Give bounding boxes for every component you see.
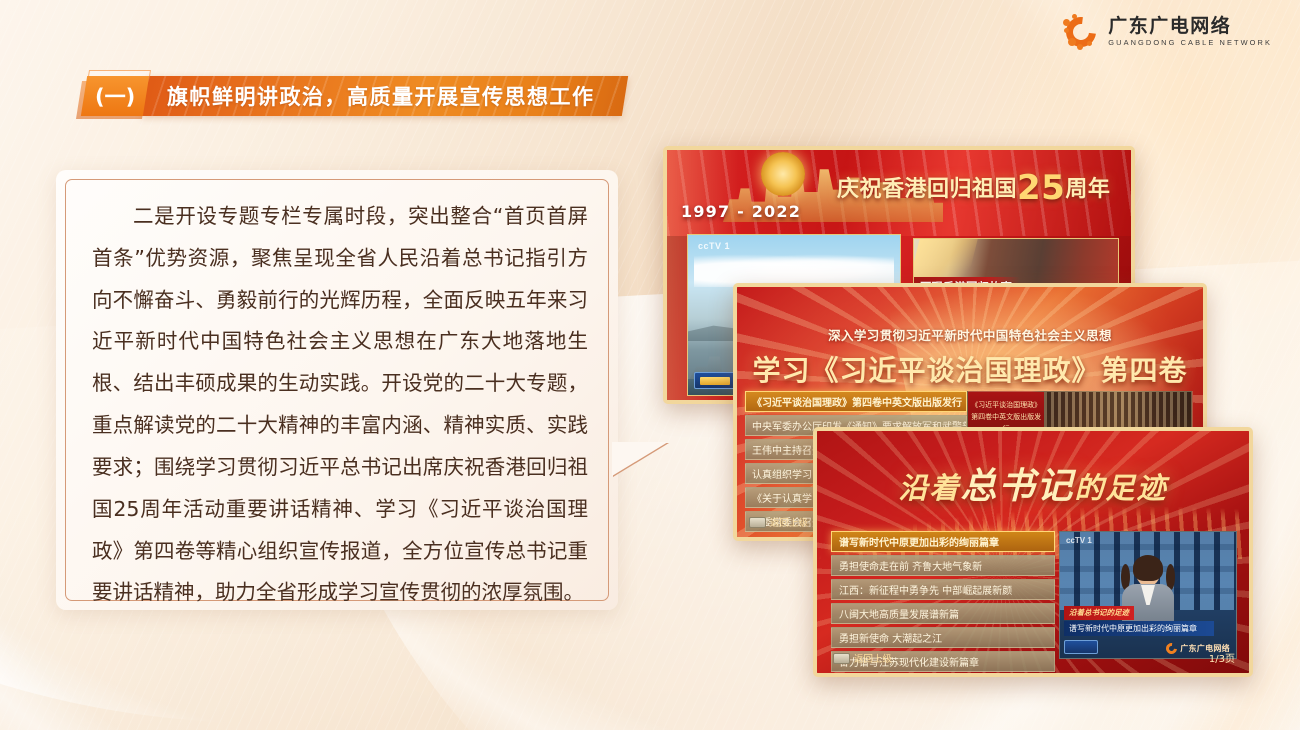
gdcn-logo-icon (1063, 14, 1099, 50)
zuji-list-item-1[interactable]: 勇担使命走在前 齐鲁大地气象新 (831, 555, 1055, 576)
zuji-headline-part2: 总书记 (960, 465, 1074, 507)
channel-logo-cctv1-zuji: ccTV 1 (1066, 536, 1092, 545)
tv-screenshot-zuji[interactable]: 沿着总书记的足迹 谱写新时代中原更加出彩的绚丽篇章 勇担使命走在前 齐鲁大地气象… (813, 427, 1253, 677)
zuji-page-indicator: 1/3页 (1209, 650, 1235, 665)
zuji-headline-part1: 沿着 (898, 471, 960, 505)
zuji-back-button[interactable]: 返回上级 (833, 651, 892, 665)
zuji-video-player[interactable]: ccTV 1 沿着总书记的足迹 谱写新时代中原更加出彩的绚丽篇章 广东广电网络 (1059, 531, 1237, 659)
lower-third-title: 沿着总书记的足迹 (1064, 606, 1134, 620)
zuji-list-item-4[interactable]: 勇担新使命 大潮起之江 (831, 627, 1055, 648)
zgz-back-button[interactable]: 返回上级 (749, 515, 808, 529)
zuji-headline-part3: 的足迹 (1075, 471, 1168, 505)
zgz-subtitle: 深入学习贯彻习近平新时代中国特色社会主义思想 (737, 325, 1203, 344)
zuji-headline: 沿着总书记的足迹 (817, 457, 1249, 509)
hk25-headline-suffix: 周年 (1065, 177, 1110, 202)
zuji-list-item-3[interactable]: 八闽大地高质量发展谱新篇 (831, 603, 1055, 624)
lower-third-text: 谱写新时代中原更加出彩的绚丽篇章 (1064, 621, 1214, 636)
hk25-headline: 庆祝香港回归祖国25周年 (837, 168, 1121, 208)
hk25-year-range: 1997 - 2022 (681, 202, 801, 221)
hk25-headline-prefix: 庆祝香港回归祖国 (837, 177, 1017, 202)
content-callout-box: 二是开设专题专栏专属时段，突出整合“首页首屏首条”优势资源，聚焦呈现全省人民沿着… (56, 170, 618, 610)
section-banner: (一) 旗帜鲜明讲政治，高质量开展宣传思想工作 (84, 76, 625, 116)
logo-name-cn: 广东广电网络 (1108, 17, 1272, 36)
section-number-label: (一) (95, 81, 135, 111)
callout-pointer-tail (612, 442, 668, 476)
slide-canvas: 广东广电网络 GUANGDONG CABLE NETWORK (一) 旗帜鲜明讲… (0, 0, 1300, 730)
zuji-list-item-0[interactable]: 谱写新时代中原更加出彩的绚丽篇章 (831, 531, 1055, 552)
bauhinia-statue-icon (761, 152, 805, 196)
hk25-headline-number: 25 (1017, 168, 1065, 208)
zgz-back-label: 返回上级 (770, 515, 808, 529)
zgz-list-item-0[interactable]: 《习近平谈治国理政》第四卷中英文版出版发行 (745, 391, 967, 412)
back-key-icon-zuji (833, 653, 850, 664)
zuji-back-label: 返回上级 (854, 651, 892, 665)
section-title-text: 旗帜鲜明讲政治，高质量开展宣传思想工作 (167, 81, 595, 111)
player-badge-icon-zuji (1064, 640, 1098, 654)
zuji-list-item-2[interactable]: 江西：新征程中勇争先 中部崛起展新颜 (831, 579, 1055, 600)
lower-third: 沿着总书记的足迹 谱写新时代中原更加出彩的绚丽篇章 (1064, 602, 1214, 636)
gdcn-watermark-icon (1164, 641, 1179, 656)
brand-logo: 广东广电网络 GUANGDONG CABLE NETWORK (1063, 14, 1272, 50)
zgz-headline: 学习《习近平谈治国理政》第四卷 (737, 349, 1203, 389)
section-title-bar: 旗帜鲜明讲政治，高质量开展宣传思想工作 (142, 76, 628, 116)
channel-logo-cctv1: ccTV 1 (698, 241, 730, 251)
section-number-badge: (一) (81, 76, 149, 116)
player-badge-icon (694, 372, 736, 389)
logo-name-en: GUANGDONG CABLE NETWORK (1108, 39, 1272, 46)
body-paragraph: 二是开设专题专栏专属时段，突出整合“首页首屏首条”优势资源，聚焦呈现全省人民沿着… (92, 196, 588, 614)
back-key-icon (749, 517, 766, 528)
